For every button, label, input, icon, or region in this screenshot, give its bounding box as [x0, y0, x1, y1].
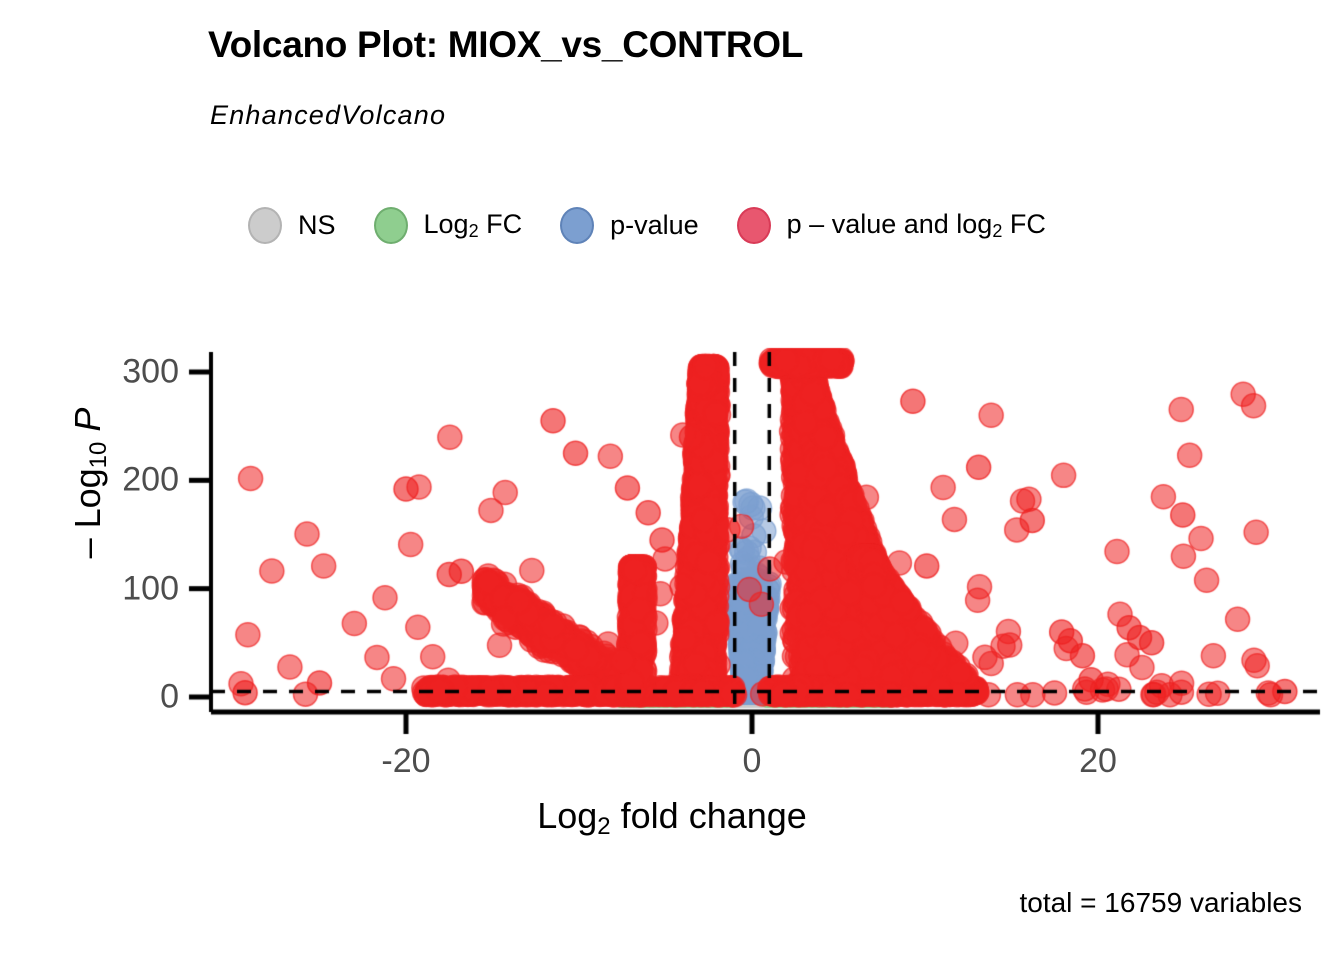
- total-variables-caption: total = 16759 variables: [1019, 887, 1302, 919]
- volcano-plot-figure: Volcano Plot: MIOX_vs_CONTROL EnhancedVo…: [0, 0, 1344, 960]
- x-tick-label: -20: [381, 742, 430, 781]
- x-axis-title: Log2 fold change: [0, 795, 1344, 841]
- x-tick-label: 20: [1079, 742, 1117, 781]
- y-axis-title: – Log10 P: [67, 273, 113, 693]
- x-tick-label: 0: [743, 742, 762, 781]
